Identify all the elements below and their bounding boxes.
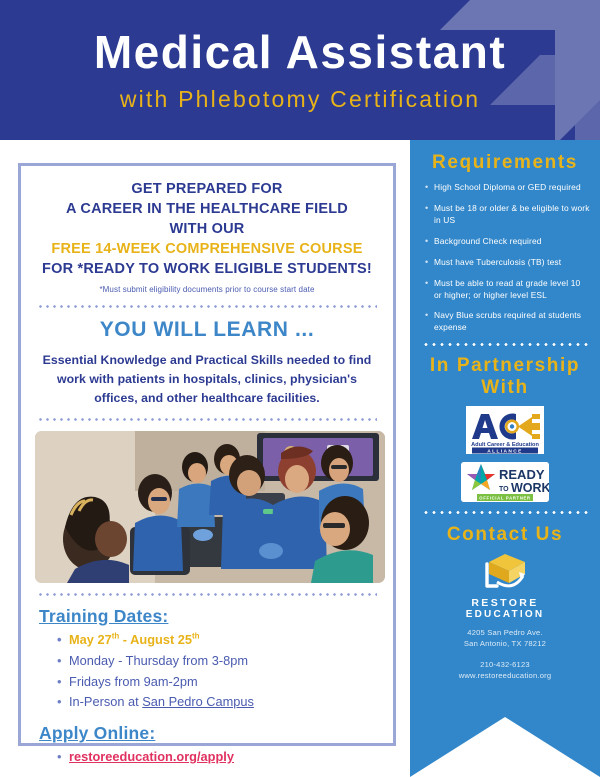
learn-heading: YOU WILL LEARN ... [35,318,379,342]
divider-dotted-sidebar-1 [422,343,588,346]
intro-footnote: *Must submit eligibility documents prior… [35,284,379,295]
list-item: Navy Blue scrubs required at students ex… [424,310,590,334]
training-dates-list: May 27th - August 25th Monday - Thursday… [57,630,379,713]
training-dates-heading: Training Dates: [39,606,379,627]
campus-link[interactable]: San Pedro Campus [142,694,254,709]
svg-text:ALLIANCE: ALLIANCE [487,448,522,454]
apply-online-section: Apply Online: restoreeducation.org/apply [35,723,379,768]
list-item: Must be 18 or older & be eligible to wor… [424,203,590,227]
requirements-list: High School Diploma or GED required Must… [424,182,590,334]
svg-text:WORK!: WORK! [511,481,549,495]
learn-body: Essential Knowledge and Practical Skills… [35,351,379,408]
contact-title: Contact Us [410,524,600,546]
list-item: May 27th - August 25th [57,630,379,651]
page-header: Medical Assistant with Phlebotomy Certif… [0,0,600,140]
divider-dotted-2 [37,418,377,421]
partnership-title: In Partnership With [410,355,600,398]
list-item: Monday - Thursday from 3-8pm [57,651,379,672]
svg-text:READY: READY [499,467,545,482]
classroom-photo-graphic [35,431,385,583]
list-item-campus: In-Person at San Pedro Campus [57,692,379,713]
restore-education-book-icon [479,552,531,592]
contact-phone[interactable]: 210-432-6123 [410,659,600,670]
apply-online-heading: Apply Online: [39,723,379,744]
list-item: Must be able to read at grade level 10 o… [424,278,590,302]
main-content-card: GET PREPARED FOR A CAREER IN THE HEALTHC… [18,163,396,746]
list-item: restoreeducation.org/apply [57,747,379,768]
intro-block: GET PREPARED FOR A CAREER IN THE HEALTHC… [35,179,379,295]
sidebar-panel: Requirements High School Diploma or GED … [410,140,600,777]
apply-online-list: restoreeducation.org/apply [57,747,379,768]
ace-logo-graphic: Adult Career & Education ALLIANCE [466,406,544,454]
training-dates-section: Training Dates: May 27th - August 25th M… [35,606,379,713]
intro-line-2: A CAREER IN THE HEALTHCARE FIELD [35,199,379,219]
ready-to-work-logo-graphic: READY TO WORK! OFFICIAL PARTNER [461,462,549,502]
address-line-1: 4205 San Pedro Ave. [410,627,600,638]
page-title: Medical Assistant [0,28,600,76]
page-subtitle: with Phlebotomy Certification [0,86,600,113]
ace-logo: Adult Career & Education ALLIANCE [466,406,544,454]
chevron-notch-decoration [410,717,600,777]
restore-education-wordmark: RESTORE EDUCATION [410,597,600,621]
svg-text:OFFICIAL PARTNER: OFFICIAL PARTNER [479,495,531,500]
intro-line-5: FOR *READY TO WORK ELIGIBLE STUDENTS! [35,259,379,279]
svg-text:Adult Career & Education: Adult Career & Education [471,442,539,448]
brand-line-2: EDUCATION [410,609,600,621]
divider-dotted-3 [37,593,377,596]
list-item: Fridays from 9am-2pm [57,672,379,693]
list-item: Must have Tuberculosis (TB) test [424,257,590,269]
list-item: High School Diploma or GED required [424,182,590,194]
contact-details: 210-432-6123 www.restoreeducation.org [410,659,600,682]
list-item: Background Check required [424,236,590,248]
classroom-photo [35,431,385,583]
ready-to-work-logo: READY TO WORK! OFFICIAL PARTNER [461,462,549,502]
contact-address: 4205 San Pedro Ave. San Antonio, TX 7821… [410,627,600,650]
contact-website[interactable]: www.restoreeducation.org [410,670,600,681]
svg-text:TO: TO [499,486,509,493]
divider-dotted-1 [37,305,377,308]
divider-dotted-sidebar-2 [422,511,588,514]
campus-prefix: In-Person at [69,694,142,709]
intro-line-4: FREE 14-WEEK COMPREHENSIVE COURSE [35,239,379,259]
address-line-2: San Antonio, TX 78212 [410,638,600,649]
apply-url-link[interactable]: restoreeducation.org/apply [69,749,234,764]
intro-line-3: WITH OUR [35,219,379,239]
intro-line-1: GET PREPARED FOR [35,179,379,199]
requirements-title: Requirements [410,152,600,174]
brand-line-1: RESTORE [410,597,600,609]
